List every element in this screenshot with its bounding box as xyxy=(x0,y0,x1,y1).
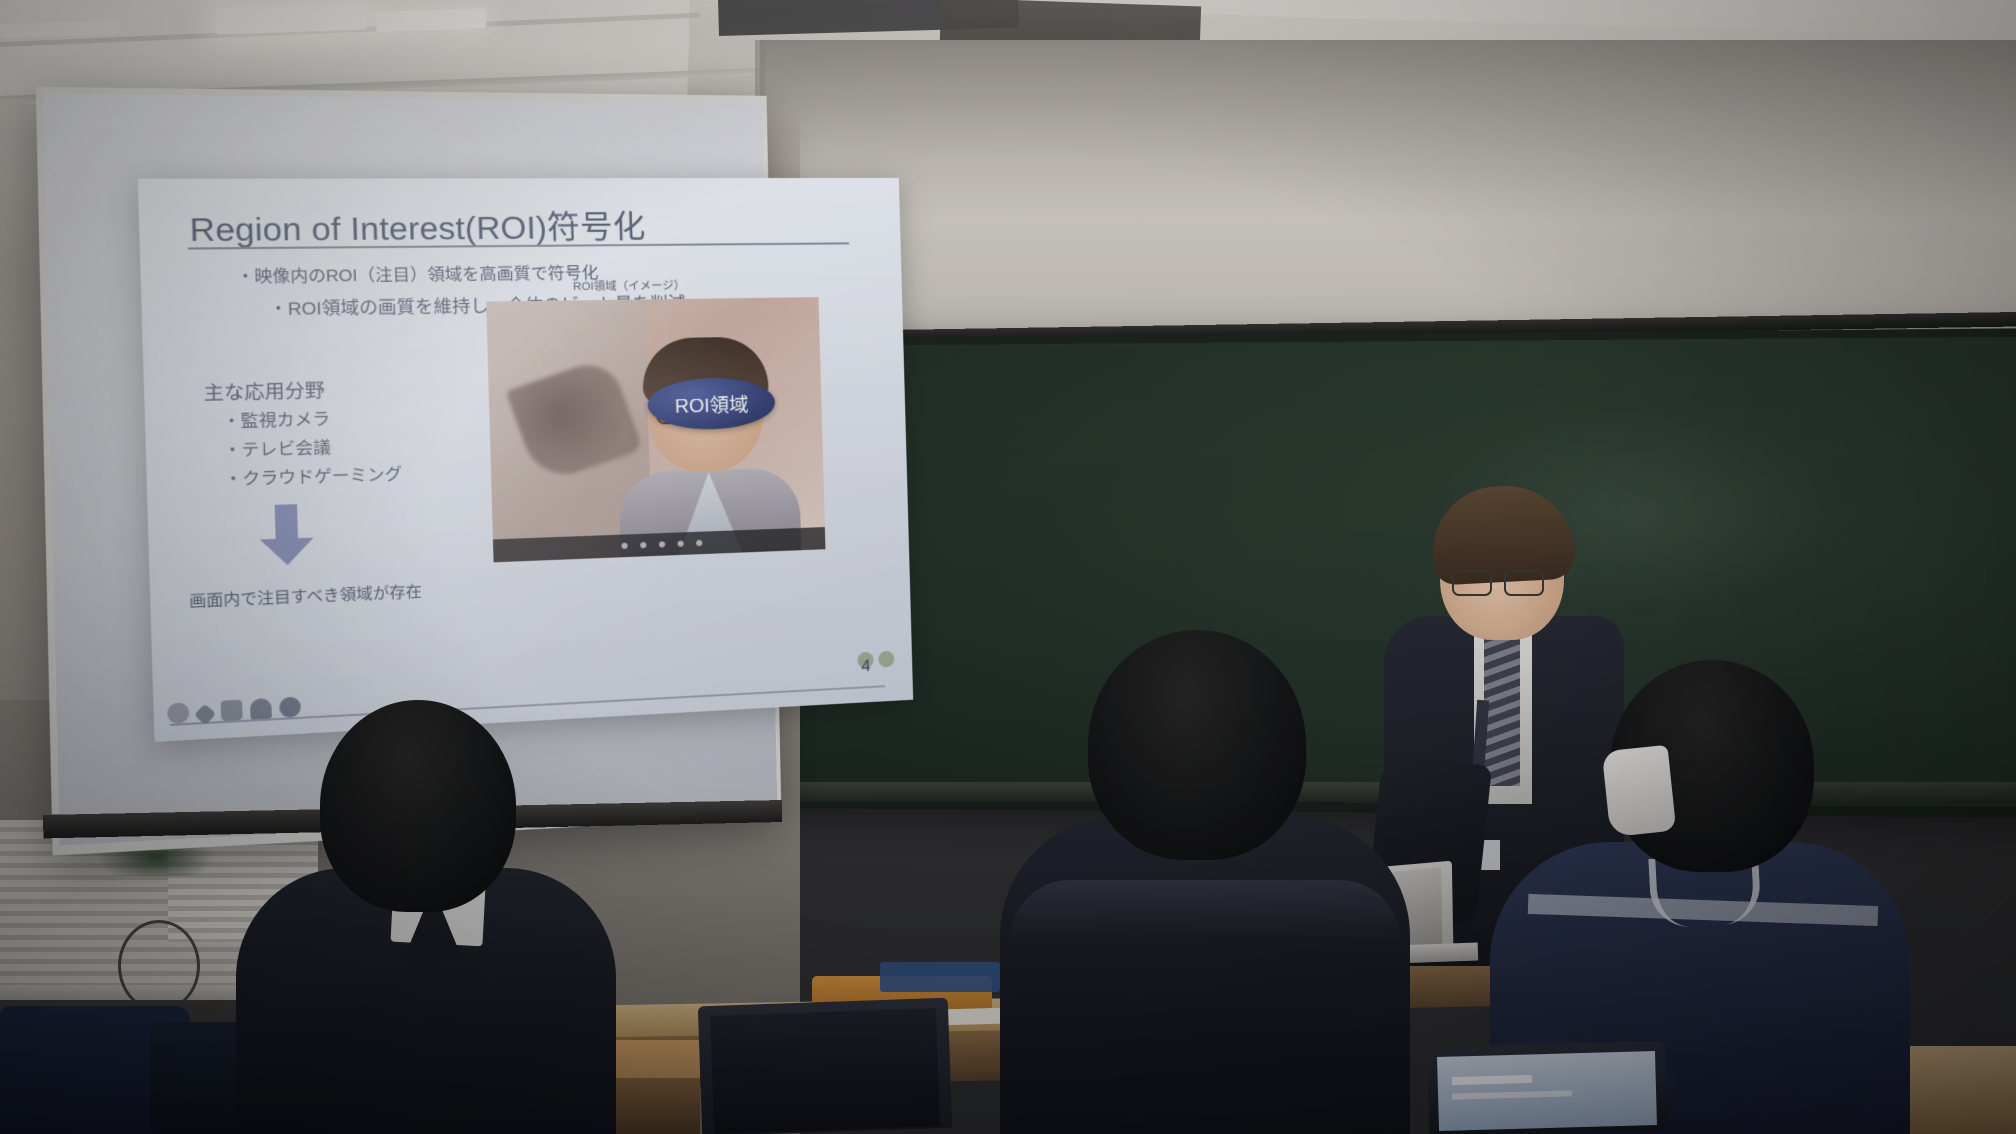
seated-attendee-center-head xyxy=(1088,630,1306,860)
presenter-tie xyxy=(1484,636,1520,786)
seated-attendee-left-head xyxy=(320,700,516,912)
blue-bag xyxy=(880,962,1000,992)
slide-title: Region of Interest(ROI)符号化 xyxy=(189,201,646,251)
lecture-room-photo: Region of Interest(ROI)符号化 ・映像内のROI（注目）領… xyxy=(0,0,2016,1134)
toolbar-dot-icon xyxy=(659,541,665,547)
logo-square-icon xyxy=(221,700,243,721)
seated-attendee-center-torso xyxy=(1000,816,1410,1134)
application-item: クラウドゲーミング xyxy=(224,461,403,495)
down-arrow-icon xyxy=(257,504,317,568)
roi-example-photo xyxy=(486,297,825,562)
emblem-icon xyxy=(878,651,894,668)
plant-wire-stand xyxy=(118,920,200,1012)
seated-attendee-center-highlight xyxy=(1010,880,1400,940)
logo-round-icon xyxy=(279,697,301,718)
slide-conclusion: 画面内で注目すべき領域が存在 xyxy=(189,580,422,612)
applications-list: 監視カメラ テレビ会議 クラウドゲーミング xyxy=(222,404,402,495)
toolbar-dot-icon xyxy=(621,543,627,549)
logo-dome-icon xyxy=(250,698,272,719)
logo-circle-icon xyxy=(167,702,189,724)
slide-bullet-primary: ・映像内のROI（注目）領域を高画質で符号化 xyxy=(236,259,599,288)
back-wall-shadow xyxy=(760,40,2016,220)
laptop-front-screen[interactable] xyxy=(710,1008,940,1134)
toolbar-dot-icon xyxy=(696,540,702,546)
presenter-glasses-icon xyxy=(1452,570,1544,592)
ceiling-light xyxy=(376,8,487,32)
presentation-slide: Region of Interest(ROI)符号化 ・映像内のROI（注目）領… xyxy=(138,178,913,742)
toolbar-dot-icon xyxy=(677,540,683,546)
face-mask-icon xyxy=(1602,745,1677,837)
toolbar-dot-icon xyxy=(640,542,646,548)
applications-heading: 主な応用分野 xyxy=(203,376,325,406)
slide-page-number: 4 xyxy=(861,656,871,677)
roi-image-caption: ROI領域（イメージ） xyxy=(573,276,686,294)
ceiling-light xyxy=(216,3,367,34)
